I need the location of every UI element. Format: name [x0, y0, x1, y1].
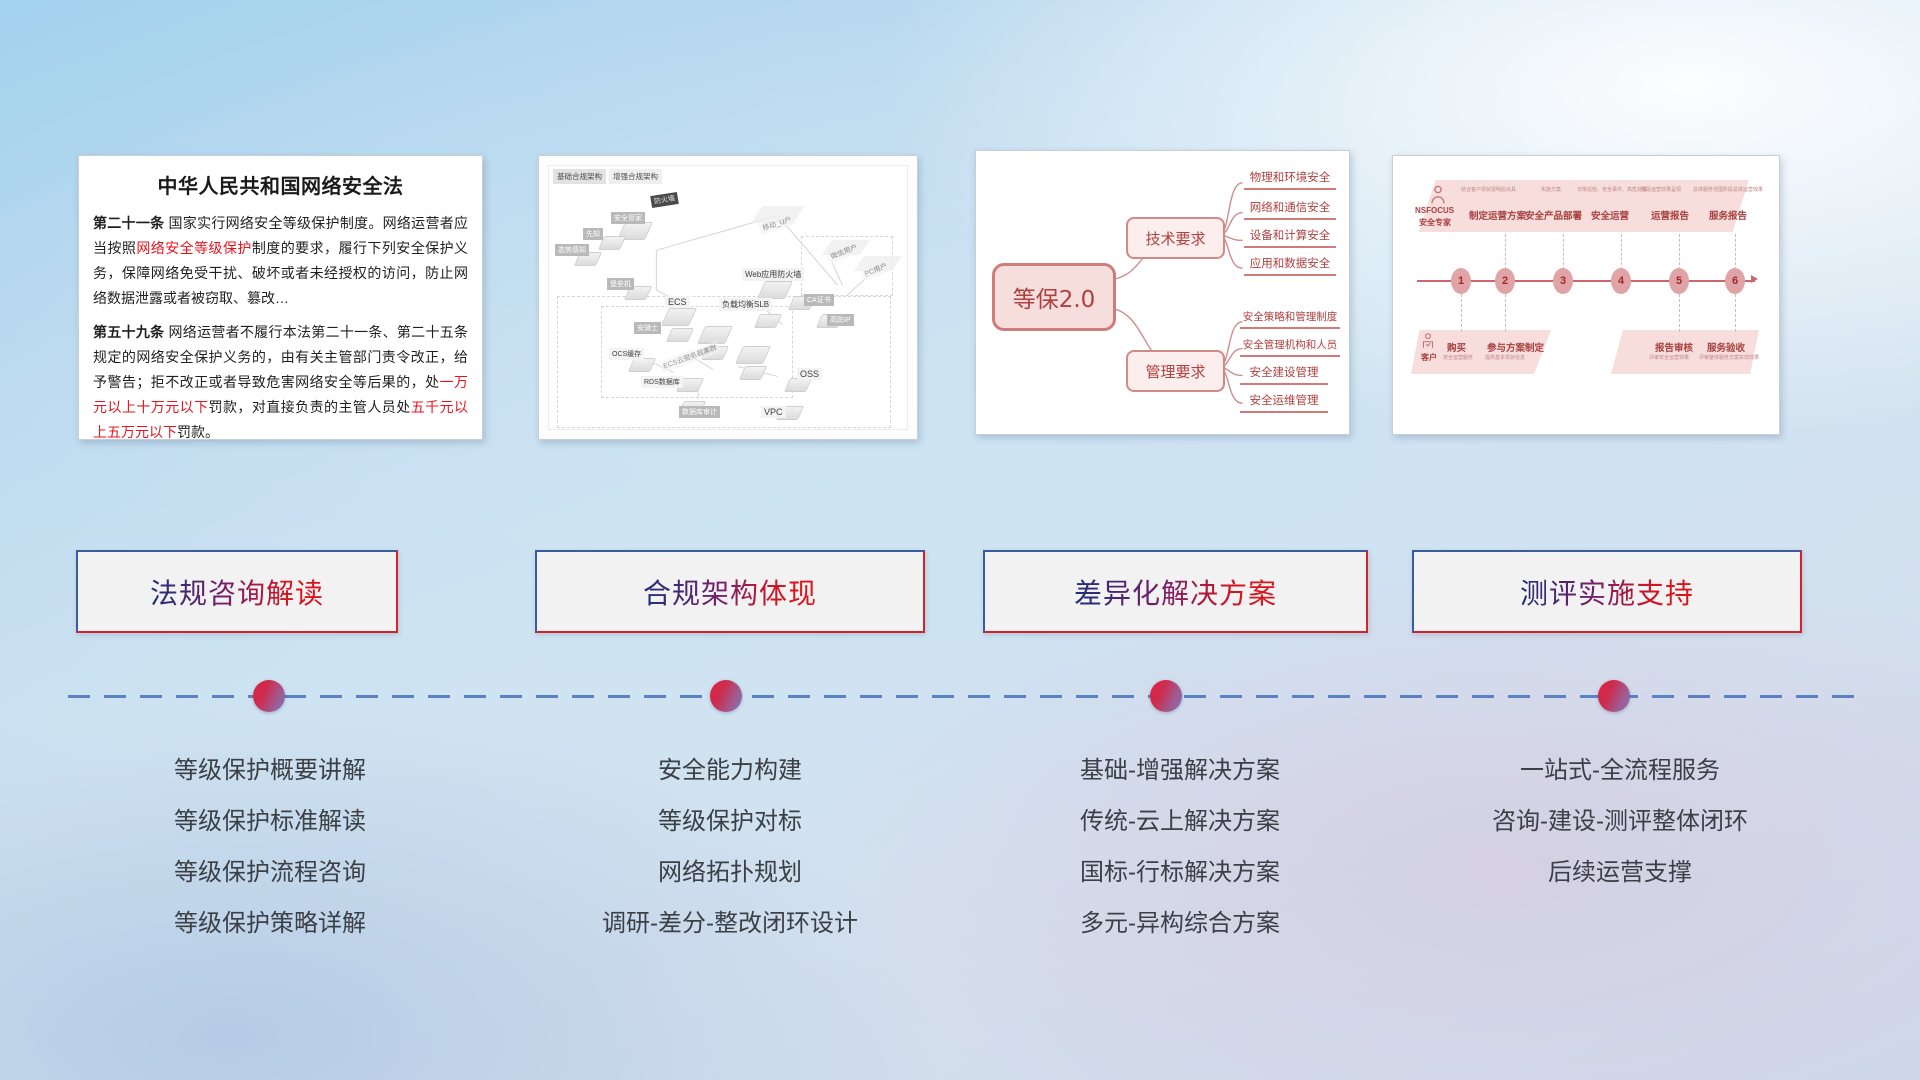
- node-ca: CA证书: [804, 294, 834, 306]
- node-bastion: 堡垒机: [607, 278, 634, 290]
- mindmap-leaf-mgmt-3: 安全建设管理: [1240, 364, 1328, 385]
- list-item: 一站式-全流程服务: [1400, 745, 1840, 796]
- list-item: 等级保护流程咨询: [60, 847, 480, 898]
- node-rds: RDS数据库: [641, 376, 683, 388]
- card-cybersecurity-law: 中华人民共和国网络安全法 第二十一条 国家实行网络安全等级保护制度。网络运营者应…: [78, 155, 483, 440]
- service-timeline: NSFOCUS 安全专家 客户 结合客户现状需明后出具 制定运营方案 实施方案 …: [1393, 156, 1779, 434]
- list-item: 安全能力构建: [510, 745, 950, 796]
- step-4-sub: 日常巡检、安全事件、高危处置: [1577, 186, 1647, 193]
- list-item: 等级保护策略详解: [60, 898, 480, 949]
- node-rds-label: RDS数据库: [641, 376, 683, 388]
- step-3-title: 安全产品部署: [1525, 208, 1582, 222]
- node-vpc: VPC: [761, 406, 786, 418]
- architecture-diagram: 基础合规架构 增强合规架构: [539, 156, 917, 439]
- section-title-2: 合规架构体现: [643, 572, 817, 612]
- law-title: 中华人民共和国网络安全法: [79, 170, 482, 199]
- list-item: 网络拓扑规划: [510, 847, 950, 898]
- mindmap-leaf-mgmt-2: 安全管理机构和人员: [1240, 337, 1340, 357]
- step-2-title: 制定运营方案: [1469, 208, 1526, 222]
- law-article-59-text-c: 罚款。: [177, 424, 219, 440]
- law-article-21: 第二十一条 国家实行网络安全等级保护制度。网络运营者应当按照网络安全等级保护制度…: [93, 211, 468, 311]
- node-oss: OSS: [797, 368, 822, 380]
- law-article-59-label: 第五十九条: [93, 324, 164, 340]
- step-6-title: 服务报告: [1709, 208, 1747, 222]
- list-item: 后续运营支撑: [1400, 847, 1840, 898]
- timeline-step-4[interactable]: 4: [1611, 268, 1631, 294]
- mindmap-center-node: 等保2.0: [992, 263, 1116, 331]
- node-vpc-label: VPC: [761, 406, 786, 418]
- section-title-3: 差异化解决方案: [1074, 572, 1277, 612]
- node-ecs: ECS: [665, 296, 690, 308]
- card-compliance-architecture: 基础合规架构 增强合规架构: [538, 155, 918, 440]
- node-db-audit-label: 数据库审计: [679, 406, 720, 418]
- node-anti-ddos: 高防IP: [827, 314, 854, 326]
- timeline-step-3[interactable]: 3: [1553, 268, 1573, 294]
- step-2-sub: 结合客户现状需明后出具: [1461, 186, 1516, 193]
- reference-cards: 中华人民共和国网络安全法 第二十一条 国家实行网络安全等级保护制度。网络运营者应…: [0, 0, 1920, 460]
- rail-dot-1[interactable]: [253, 680, 285, 712]
- rail-dot-2[interactable]: [710, 680, 742, 712]
- customer-step-3-title: 报告审核: [1655, 340, 1693, 354]
- node-situational: 态势感知: [555, 244, 589, 256]
- step-3-dash: [1563, 234, 1564, 270]
- list-item: 等级保护标准解读: [60, 796, 480, 847]
- step-6-dash: [1735, 234, 1736, 270]
- timeline-arrow-icon: [1751, 275, 1758, 283]
- node-waf: Web应用防火墙: [742, 268, 804, 281]
- node-slb-label: 负载均衡SLB: [719, 298, 772, 311]
- customer-step-4-title: 服务验收: [1707, 340, 1745, 354]
- timeline-step-6[interactable]: 6: [1725, 268, 1745, 294]
- list-item: 咨询-建设-测评整体闭环: [1400, 796, 1840, 847]
- customer-person-icon: [1419, 332, 1437, 350]
- vendor-label-line1: NSFOCUS: [1415, 206, 1454, 215]
- node-waf-label: Web应用防火墙: [742, 268, 804, 281]
- step-5-sub: 阶段运营效果呈现: [1641, 186, 1681, 193]
- step-6-dash-down: [1735, 294, 1736, 332]
- law-article-59-text-b: 罚款，对直接负责的主管人员处: [209, 399, 411, 415]
- section-list-3: 基础-增强解决方案 传统-云上解决方案 国标-行标解决方案 多元-异构综合方案: [960, 745, 1400, 949]
- law-article-21-highlight: 网络安全等级保护: [136, 240, 252, 256]
- node-anqishi: 安骑士: [634, 322, 661, 334]
- node-anqishi-label: 安骑士: [634, 322, 661, 334]
- step-5-dash: [1679, 234, 1680, 270]
- node-security-butler-label: 安全管家: [611, 212, 645, 224]
- customer-label: 客户: [1421, 352, 1437, 363]
- step-6-sub: 总体服务范围阶段总体运营效果: [1693, 186, 1763, 193]
- node-db-audit: 数据库审计: [679, 406, 720, 418]
- node-ecs-label: ECS: [665, 296, 690, 308]
- mindmap-branch-technical: 技术要求: [1126, 217, 1225, 259]
- node-security-butler: 安全管家: [611, 212, 645, 224]
- timeline-step-5[interactable]: 5: [1669, 268, 1689, 294]
- mindmap-leaf-tech-1: 物理和环境安全: [1244, 169, 1336, 190]
- step-4-title: 安全运营: [1591, 208, 1629, 222]
- step-4-dash: [1621, 234, 1622, 270]
- law-article-59: 第五十九条 网络运营者不履行本法第二十一条、第二十五条规定的网络安全保护义务的，…: [93, 320, 468, 440]
- timeline-rail: [68, 695, 1854, 698]
- node-bastion-label: 堡垒机: [607, 278, 634, 290]
- node-oss-label: OSS: [797, 368, 822, 380]
- step-2-dash-down: [1505, 294, 1506, 332]
- section-title-box-4[interactable]: 测评实施支持: [1412, 550, 1802, 633]
- mindmap-leaf-tech-4: 应用和数据安全: [1244, 255, 1336, 276]
- step-2-dash: [1505, 234, 1506, 270]
- node-situational-label: 态势感知: [555, 244, 589, 256]
- list-item: 多元-异构综合方案: [960, 898, 1400, 949]
- card-mindmap-dengbao: 等保2.0 技术要求 管理要求 物理和环境安全 网络和通信安全 设备和计算安全 …: [975, 150, 1350, 435]
- node-ocs-cache-label: OCS缓存: [609, 348, 644, 360]
- customer-step-3-sub: 评审安全运营效果: [1649, 354, 1689, 361]
- node-ocs-cache: OCS缓存: [609, 348, 644, 360]
- expert-person-icon: [1427, 184, 1449, 206]
- step-3-sub: 实施方案: [1541, 186, 1561, 193]
- list-item: 基础-增强解决方案: [960, 745, 1400, 796]
- section-title-box-3[interactable]: 差异化解决方案: [983, 550, 1368, 633]
- section-list-1: 等级保护概要讲解 等级保护标准解读 等级保护流程咨询 等级保护策略详解: [60, 745, 480, 949]
- section-title-box-2[interactable]: 合规架构体现: [535, 550, 925, 633]
- rail-dot-4[interactable]: [1598, 680, 1630, 712]
- list-item: 国标-行标解决方案: [960, 847, 1400, 898]
- list-item: 等级保护概要讲解: [60, 745, 480, 796]
- mindmap-leaf-mgmt-4: 安全运维管理: [1240, 392, 1328, 413]
- step-1-dash-down: [1461, 294, 1462, 332]
- mindmap: 等保2.0 技术要求 管理要求 物理和环境安全 网络和通信安全 设备和计算安全 …: [976, 151, 1349, 434]
- timeline-step-2[interactable]: 2: [1495, 268, 1515, 294]
- step-5-dash-down: [1679, 294, 1680, 332]
- node-anti-ddos-label: 高防IP: [827, 314, 854, 326]
- section-title-box-1[interactable]: 法规咨询解读: [76, 550, 398, 633]
- list-item: 传统-云上解决方案: [960, 796, 1400, 847]
- mindmap-leaf-mgmt-1: 安全策略和管理制度: [1240, 309, 1340, 329]
- list-item: 等级保护对标: [510, 796, 950, 847]
- section-list-2: 安全能力构建 等级保护对标 网络拓扑规划 调研-差分-整改闭环设计: [510, 745, 950, 949]
- step-5-title: 运营报告: [1651, 208, 1689, 222]
- list-item: 调研-差分-整改闭环设计: [510, 898, 950, 949]
- card-service-timeline: NSFOCUS 安全专家 客户 结合客户现状需明后出具 制定运营方案 实施方案 …: [1392, 155, 1780, 435]
- customer-step-2-sub: 提供基本现状信息: [1485, 354, 1525, 361]
- customer-step-2-title: 参与方案制定: [1487, 340, 1544, 354]
- mindmap-leaf-tech-3: 设备和计算安全: [1244, 227, 1336, 248]
- node-xianzhi: 先知: [583, 228, 603, 240]
- law-article-21-label: 第二十一条: [93, 215, 164, 231]
- rail-dot-3[interactable]: [1150, 680, 1182, 712]
- vendor-label-line2: 安全专家: [1419, 217, 1451, 228]
- node-slb: 负载均衡SLB: [719, 298, 772, 311]
- section-title-4: 测评实施支持: [1520, 572, 1694, 612]
- mindmap-leaf-tech-2: 网络和通信安全: [1244, 199, 1336, 220]
- section-list-4: 一站式-全流程服务 咨询-建设-测评整体闭环 后续运营支撑: [1400, 745, 1840, 898]
- mindmap-branch-management: 管理要求: [1126, 350, 1225, 392]
- customer-step-1-sub: 安全运营服务: [1443, 354, 1473, 361]
- node-xianzhi-label: 先知: [583, 228, 603, 240]
- customer-step-4-sub: 评审整体服务方案实现效果: [1699, 354, 1759, 361]
- customer-step-1-title: 购买: [1447, 340, 1466, 354]
- node-ca-label: CA证书: [804, 294, 834, 306]
- timeline-step-1[interactable]: 1: [1451, 268, 1471, 294]
- section-title-1: 法规咨询解读: [150, 572, 324, 612]
